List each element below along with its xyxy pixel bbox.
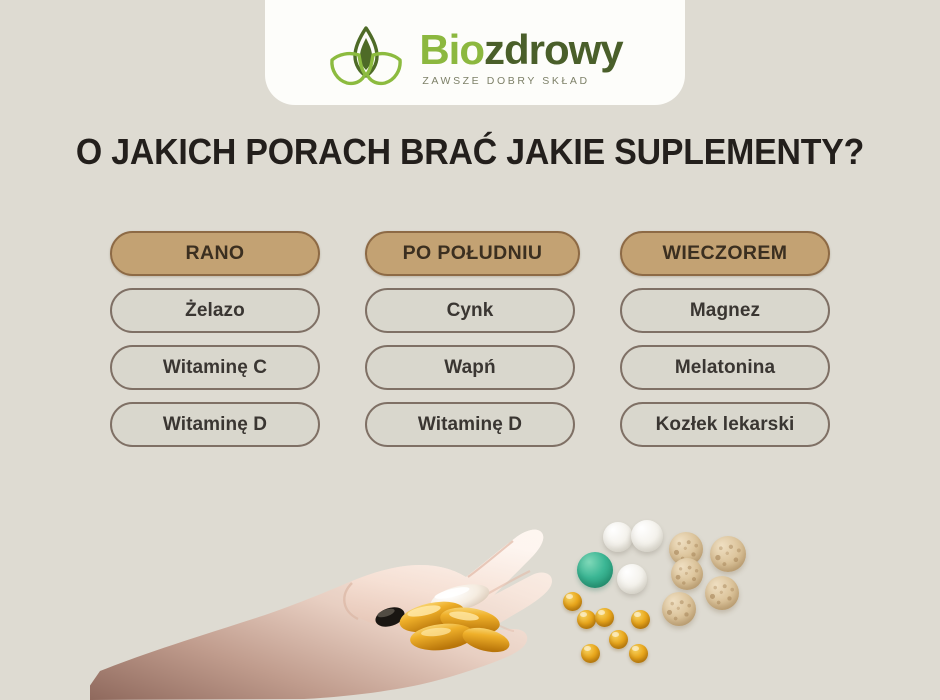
supplement-item[interactable]: Kozłek lekarski bbox=[620, 402, 830, 447]
logo-word-row: Biozdrowy bbox=[419, 29, 622, 71]
column-evening: WIECZOREM Magnez Melatonina Kozłek lekar… bbox=[620, 231, 830, 447]
tablet-tan-speckled bbox=[705, 576, 739, 610]
pill-teal-round bbox=[577, 552, 613, 588]
tablet-tan-speckled bbox=[662, 592, 696, 626]
bead-gold-small bbox=[629, 644, 648, 663]
leaf-plant-icon bbox=[327, 25, 405, 91]
pill-white-round bbox=[603, 522, 633, 552]
column-morning: RANO Żelazo Witaminę C Witaminę D bbox=[110, 231, 320, 447]
supplement-item[interactable]: Magnez bbox=[620, 288, 830, 333]
infographic-canvas: Biozdrowy ZAWSZE DOBRY SKŁAD O JAKICH PO… bbox=[0, 0, 940, 700]
tablet-tan-speckled bbox=[710, 536, 746, 572]
logo-word-zdrowy: zdrowy bbox=[484, 26, 623, 73]
bead-gold-small bbox=[595, 608, 614, 627]
logo-lockup: Biozdrowy ZAWSZE DOBRY SKŁAD bbox=[327, 25, 622, 91]
tablet-tan-speckled bbox=[671, 558, 703, 590]
logo-wordmark: Biozdrowy ZAWSZE DOBRY SKŁAD bbox=[419, 29, 622, 87]
column-header-evening[interactable]: WIECZOREM bbox=[620, 231, 830, 276]
supplement-item[interactable]: Melatonina bbox=[620, 345, 830, 390]
photo-area bbox=[0, 470, 940, 700]
column-afternoon: PO POŁUDNIU Cynk Wapń Witaminę D bbox=[365, 231, 575, 447]
supplement-item[interactable]: Żelazo bbox=[110, 288, 320, 333]
hand-illustration bbox=[90, 470, 570, 700]
scattered-pills-cluster bbox=[555, 520, 795, 680]
bead-gold-small bbox=[563, 592, 582, 611]
supplement-item[interactable]: Wapń bbox=[365, 345, 575, 390]
pill-white-round bbox=[617, 564, 647, 594]
supplement-schedule: RANO Żelazo Witaminę C Witaminę D PO POŁ… bbox=[0, 231, 940, 447]
supplement-item[interactable]: Witaminę D bbox=[365, 402, 575, 447]
logo-tagline: ZAWSZE DOBRY SKŁAD bbox=[422, 76, 589, 87]
column-header-morning[interactable]: RANO bbox=[110, 231, 320, 276]
bead-gold-small bbox=[581, 644, 600, 663]
brand-logo-panel: Biozdrowy ZAWSZE DOBRY SKŁAD bbox=[265, 0, 685, 105]
bead-gold-small bbox=[577, 610, 596, 629]
supplement-item[interactable]: Cynk bbox=[365, 288, 575, 333]
column-header-afternoon[interactable]: PO POŁUDNIU bbox=[365, 231, 580, 276]
logo-word-bio: Bio bbox=[419, 26, 484, 73]
supplement-item[interactable]: Witaminę C bbox=[110, 345, 320, 390]
supplement-item[interactable]: Witaminę D bbox=[110, 402, 320, 447]
bead-gold-small bbox=[631, 610, 650, 629]
pill-white-round bbox=[631, 520, 663, 552]
bead-gold-small bbox=[609, 630, 628, 649]
page-title: O JAKICH PORACH BRAĆ JAKIE SUPLEMENTY? bbox=[28, 131, 912, 173]
hand-holding-capsules-image bbox=[90, 470, 570, 700]
